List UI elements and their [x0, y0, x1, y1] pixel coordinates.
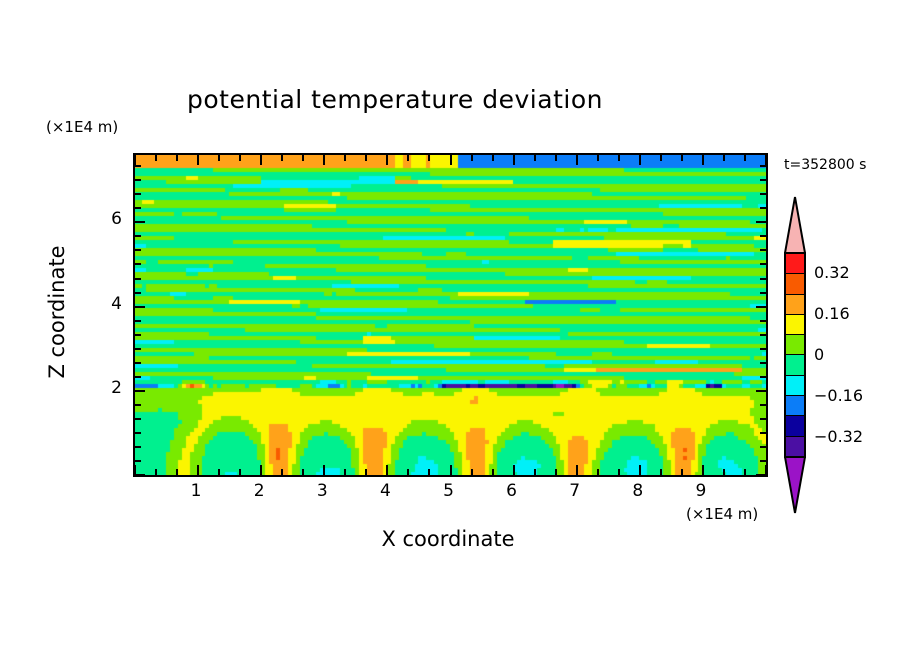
axis-tick — [760, 446, 768, 448]
axis-tick — [471, 153, 473, 161]
axis-tick — [760, 460, 768, 462]
axis-tick — [760, 193, 768, 195]
axis-tick — [702, 465, 704, 477]
axis-tick — [133, 193, 141, 195]
x-tick-label: 3 — [302, 481, 342, 501]
axis-tick — [281, 153, 283, 161]
axis-tick — [133, 306, 145, 308]
x-tick-label: 9 — [681, 481, 721, 501]
axis-tick — [133, 320, 141, 322]
time-annotation: t=352800 s — [784, 157, 866, 173]
axis-tick — [756, 474, 768, 476]
axis-tick — [760, 207, 768, 209]
colorbar-under-arrow-icon — [784, 456, 806, 514]
axis-tick — [760, 404, 768, 406]
axis-tick — [765, 465, 767, 477]
axis-tick — [239, 469, 241, 477]
x-tick-label: 7 — [555, 481, 595, 501]
axis-tick — [260, 465, 262, 477]
axis-tick — [760, 179, 768, 181]
axis-tick — [133, 207, 141, 209]
axis-tick — [618, 469, 620, 477]
axis-tick — [450, 153, 452, 165]
axis-tick — [765, 153, 767, 165]
axis-tick — [492, 153, 494, 161]
colorbar-label: 0.16 — [814, 304, 850, 323]
axis-tick — [744, 469, 746, 477]
axis-tick — [133, 165, 141, 167]
colorbar-band — [786, 355, 804, 375]
axis-tick — [133, 376, 141, 378]
axis-tick — [133, 221, 145, 223]
axis-tick — [756, 390, 768, 392]
axis-tick — [133, 278, 141, 280]
axis-tick — [407, 153, 409, 161]
axis-tick — [133, 334, 141, 336]
axis-tick — [681, 153, 683, 161]
colorbar-label: 0 — [814, 345, 824, 364]
axis-tick — [239, 153, 241, 161]
axis-tick — [576, 153, 578, 165]
axis-tick — [281, 469, 283, 477]
colorbar-bands — [784, 252, 806, 458]
axis-tick — [744, 153, 746, 161]
axis-tick — [133, 390, 145, 392]
axis-tick — [492, 469, 494, 477]
axis-tick — [218, 469, 220, 477]
axis-tick — [513, 153, 515, 165]
colorbar-band — [786, 437, 804, 456]
y-axis-unit-label: (×1E4 m) — [46, 118, 118, 136]
axis-tick — [386, 465, 388, 477]
x-axis-title: X coordinate — [233, 527, 663, 551]
axis-tick — [197, 465, 199, 477]
plot-area — [133, 153, 768, 477]
colorbar: 0.320.160−0.16−0.32 — [784, 196, 806, 514]
axis-tick — [133, 292, 141, 294]
x-tick-label: 4 — [365, 481, 405, 501]
axis-tick — [407, 469, 409, 477]
x-tick-label: 2 — [239, 481, 279, 501]
axis-tick — [302, 469, 304, 477]
axis-tick — [756, 221, 768, 223]
axis-tick — [133, 263, 141, 265]
axis-tick — [133, 249, 141, 251]
axis-tick — [760, 292, 768, 294]
contour-plot-figure: potential temperature deviation (×1E4 m)… — [0, 0, 904, 654]
axis-tick — [723, 153, 725, 161]
y-axis-title: Z coordinate — [45, 222, 69, 402]
axis-tick — [133, 235, 141, 237]
colorbar-band — [786, 396, 804, 416]
axis-tick — [302, 153, 304, 161]
colorbar-band — [786, 335, 804, 355]
axis-tick — [471, 469, 473, 477]
axis-tick — [555, 153, 557, 161]
axis-tick — [134, 465, 136, 477]
axis-tick — [133, 404, 141, 406]
axis-tick — [618, 153, 620, 161]
axis-tick — [133, 446, 141, 448]
axis-tick — [760, 320, 768, 322]
x-axis-unit-label: (×1E4 m) — [686, 505, 758, 523]
axis-tick — [555, 469, 557, 477]
contour-field — [135, 155, 766, 475]
axis-tick — [760, 432, 768, 434]
axis-tick — [176, 153, 178, 161]
axis-tick — [597, 469, 599, 477]
axis-tick — [760, 235, 768, 237]
x-tick-label: 8 — [618, 481, 658, 501]
axis-tick — [323, 465, 325, 477]
y-tick-label: 6 — [82, 209, 122, 229]
axis-tick — [760, 348, 768, 350]
axis-tick — [176, 469, 178, 477]
axis-tick — [155, 469, 157, 477]
axis-tick — [134, 153, 136, 165]
axis-tick — [133, 179, 141, 181]
x-tick-label: 1 — [176, 481, 216, 501]
axis-tick — [534, 469, 536, 477]
page-title: potential temperature deviation — [0, 85, 790, 114]
axis-tick — [133, 474, 145, 476]
axis-tick — [450, 465, 452, 477]
axis-tick — [133, 362, 141, 364]
axis-tick — [133, 418, 141, 420]
axis-tick — [597, 153, 599, 161]
axis-tick — [133, 348, 141, 350]
axis-tick — [702, 153, 704, 165]
x-tick-label: 6 — [492, 481, 532, 501]
axis-tick — [760, 362, 768, 364]
colorbar-label: 0.32 — [814, 263, 850, 282]
colorbar-band — [786, 274, 804, 294]
colorbar-band — [786, 416, 804, 436]
axis-tick — [576, 465, 578, 477]
axis-tick — [760, 263, 768, 265]
axis-tick — [260, 153, 262, 165]
axis-tick — [386, 153, 388, 165]
axis-tick — [760, 165, 768, 167]
axis-tick — [534, 153, 536, 161]
axis-tick — [660, 153, 662, 161]
axis-tick — [681, 469, 683, 477]
axis-tick — [760, 376, 768, 378]
axis-tick — [155, 153, 157, 161]
axis-tick — [639, 465, 641, 477]
axis-tick — [760, 278, 768, 280]
axis-tick — [723, 469, 725, 477]
axis-tick — [344, 469, 346, 477]
axis-tick — [344, 153, 346, 161]
y-tick-label: 4 — [82, 294, 122, 314]
axis-tick — [218, 153, 220, 161]
axis-tick — [197, 153, 199, 165]
axis-tick — [428, 469, 430, 477]
colorbar-band — [786, 315, 804, 335]
axis-tick — [513, 465, 515, 477]
axis-tick — [760, 418, 768, 420]
axis-tick — [365, 153, 367, 161]
axis-tick — [428, 153, 430, 161]
colorbar-band — [786, 376, 804, 396]
colorbar-band — [786, 295, 804, 315]
axis-tick — [323, 153, 325, 165]
colorbar-label: −0.32 — [814, 427, 863, 446]
axis-tick — [756, 306, 768, 308]
y-tick-label: 2 — [82, 378, 122, 398]
axis-tick — [639, 153, 641, 165]
axis-tick — [760, 334, 768, 336]
x-tick-label: 5 — [429, 481, 469, 501]
axis-tick — [760, 249, 768, 251]
axis-tick — [133, 432, 141, 434]
colorbar-over-arrow-icon — [784, 196, 806, 254]
axis-tick — [133, 460, 141, 462]
colorbar-band — [786, 254, 804, 274]
colorbar-label: −0.16 — [814, 386, 863, 405]
axis-tick — [365, 469, 367, 477]
axis-tick — [660, 469, 662, 477]
